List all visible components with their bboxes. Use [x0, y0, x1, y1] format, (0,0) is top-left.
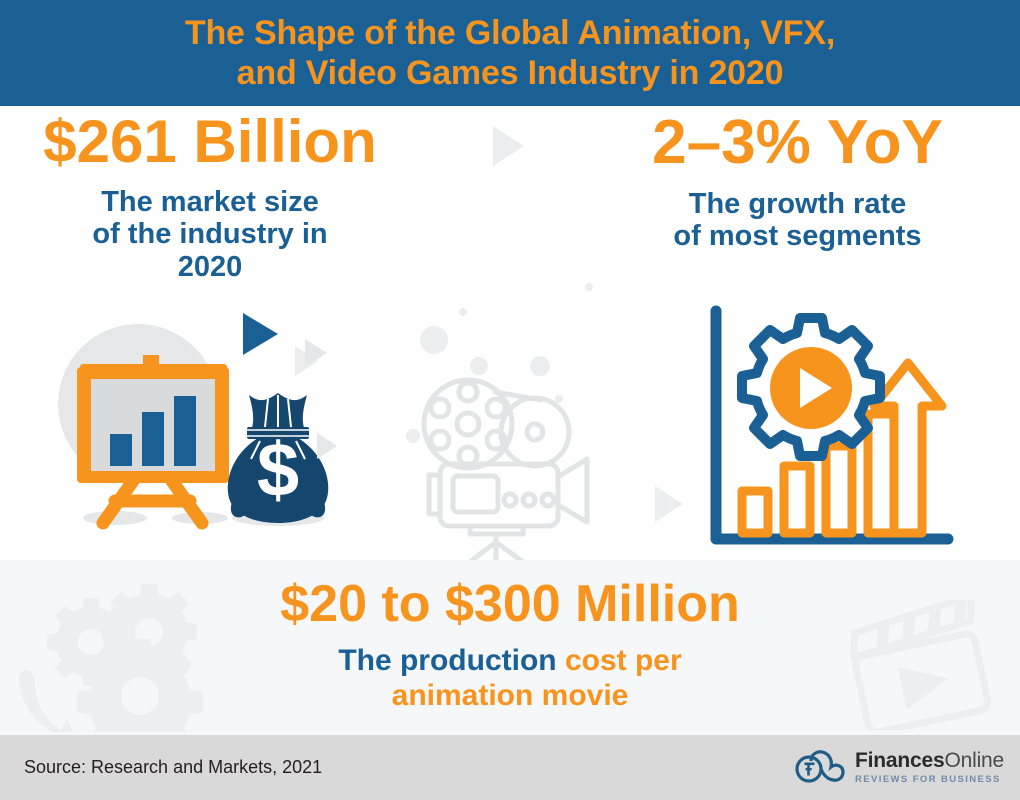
logo-name-light: Online: [944, 749, 1004, 772]
stat-label-market-size: The market size of the industry in 2020: [0, 186, 420, 283]
stat-label-production-cost: The production cost per animation movie: [0, 644, 1020, 714]
gear-icon: [742, 318, 880, 456]
production-cost-text: $20 to $300 Million The production cost …: [0, 560, 1020, 714]
production-cost-band: $20 to $300 Million The production cost …: [0, 560, 1020, 735]
label-line-animation-movie: animation movie: [0, 679, 1020, 714]
infographic-page: The Shape of the Global Animation, VFX, …: [0, 0, 1020, 800]
dollar-sign: $: [257, 428, 299, 513]
main-content: $261 Billion The market size of the indu…: [0, 106, 1020, 560]
bar-3: [174, 396, 196, 466]
money-bag-icon: $: [228, 393, 328, 523]
play-triangle-icon: [317, 433, 337, 459]
bubble-icon: [459, 308, 467, 316]
play-triangle-icon: [243, 313, 278, 355]
market-size-illustration: $: [25, 291, 355, 546]
financesonline-mark-icon: [794, 747, 846, 787]
title-line-1: The Shape of the Global Animation, VFX,: [185, 13, 835, 53]
header-banner: The Shape of the Global Animation, VFX, …: [0, 0, 1020, 106]
stat-block-market-size: $261 Billion The market size of the indu…: [0, 112, 420, 283]
logo-name-bold: Finances: [855, 749, 944, 772]
logo-tagline: REVIEWS FOR BUSINESS: [855, 775, 1004, 785]
bar-2: [784, 466, 810, 533]
stat-label-line-1: The market size: [0, 186, 420, 218]
bar-1: [742, 491, 768, 533]
label-part-cost-per: cost per: [565, 644, 682, 677]
camera-lens-horn: [558, 459, 587, 522]
play-triangle-icon: [655, 486, 683, 522]
logo-wordmark: FinancesOnline REVIEWS FOR BUSINESS: [855, 750, 1004, 785]
play-triangle-icon: [305, 339, 327, 367]
stat-block-growth-rate: 2–3% YoY The growth rate of most segment…: [575, 112, 1020, 253]
stat-value-market-size: $261 Billion: [0, 112, 420, 172]
stat-value-production-cost: $20 to $300 Million: [0, 578, 1020, 630]
bubble-icon: [585, 283, 593, 291]
growth-rate-illustration: [700, 301, 960, 551]
label-part-production: The production: [338, 644, 565, 677]
stat-label-line-1: The growth rate: [575, 188, 1020, 220]
stat-label-line-2: of the industry in: [0, 218, 420, 250]
stat-label-line-3: 2020: [0, 251, 420, 283]
footer-bar: Source: Research and Markets, 2021 Finan…: [0, 735, 1020, 800]
play-triangle-icon: [493, 126, 524, 166]
movie-camera-watermark: [395, 346, 625, 560]
bar-1: [110, 434, 132, 466]
bar-3: [826, 446, 852, 533]
source-text: Source: Research and Markets, 2021: [24, 757, 322, 778]
camera-screen: [453, 476, 498, 512]
title-line-2: and Video Games Industry in 2020: [185, 53, 835, 93]
stat-value-growth-rate: 2–3% YoY: [575, 112, 1020, 174]
stat-label-growth-rate: The growth rate of most segments: [575, 188, 1020, 253]
stat-label-line-2: of most segments: [575, 220, 1020, 252]
logo-name: FinancesOnline: [855, 750, 1004, 771]
page-title: The Shape of the Global Animation, VFX, …: [185, 13, 835, 93]
financesonline-logo[interactable]: FinancesOnline REVIEWS FOR BUSINESS: [794, 747, 1004, 787]
bar-2: [142, 412, 164, 466]
camera-tripod: [470, 534, 523, 560]
